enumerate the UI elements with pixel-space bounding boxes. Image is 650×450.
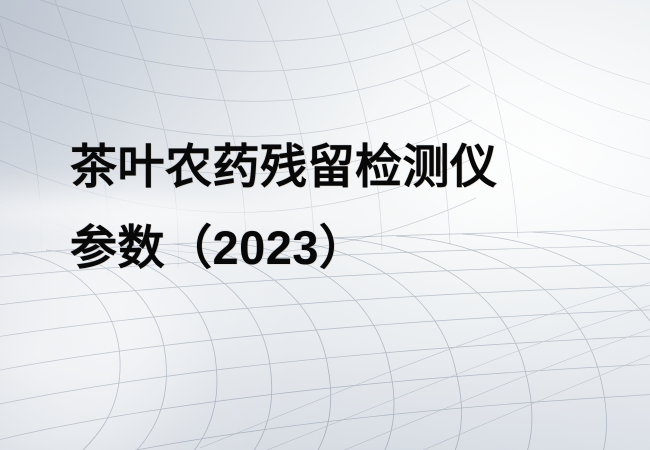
title-banner: 茶叶农药残留检测仪 参数（2023） bbox=[0, 0, 650, 450]
banner-title-line-2: 参数（2023） bbox=[70, 207, 498, 288]
banner-title-line-1: 茶叶农药残留检测仪 bbox=[70, 126, 498, 207]
banner-title-block: 茶叶农药残留检测仪 参数（2023） bbox=[70, 126, 498, 288]
